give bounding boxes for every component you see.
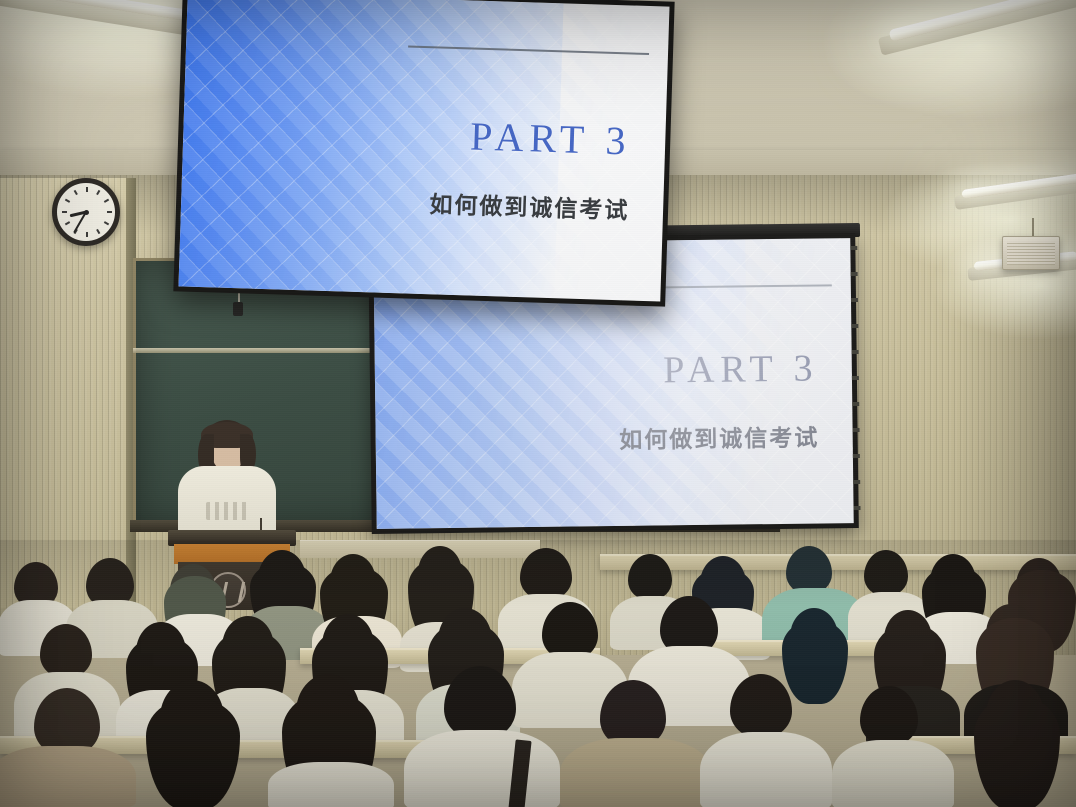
audience xyxy=(0,540,1076,807)
student-torso xyxy=(0,746,136,807)
slide-subtitle: 如何做到诚信考试 xyxy=(429,185,630,225)
student-head xyxy=(628,554,672,600)
slide-part-heading: PART 3 xyxy=(469,113,632,165)
student-hair xyxy=(974,696,1060,807)
presenter-shirt-print xyxy=(206,502,250,520)
tv-slide: PART 3 如何做到诚信考试 xyxy=(178,0,669,301)
student-torso xyxy=(268,762,394,807)
screen-pull-cord-knob xyxy=(233,302,243,316)
clock-tick xyxy=(96,229,100,234)
clock-center-pin xyxy=(84,210,89,215)
student-head xyxy=(444,666,516,740)
student-head xyxy=(40,624,92,678)
presenter xyxy=(172,420,282,538)
clock-tick xyxy=(107,211,112,213)
student-hair xyxy=(146,698,240,807)
clock-tick xyxy=(104,199,109,203)
clock-tick xyxy=(86,232,88,237)
speaker-hanger xyxy=(1032,218,1034,238)
student-torso xyxy=(700,732,832,807)
wall-clock xyxy=(52,178,120,246)
clock-tick xyxy=(65,199,70,203)
slide-part-heading: PART 3 xyxy=(663,347,819,393)
student-head xyxy=(520,548,572,600)
desk-row xyxy=(600,554,1076,570)
student-head xyxy=(786,546,832,594)
student-torso xyxy=(404,730,560,807)
clock-tick xyxy=(65,221,70,225)
clock-tick xyxy=(96,190,100,195)
clock-tick xyxy=(62,211,67,213)
clock-tick xyxy=(74,190,78,195)
clock-tick xyxy=(104,221,109,225)
lecture-hall-photo: PART 3 如何做到诚信考试 PART 3 如何做到诚信考试 xyxy=(0,0,1076,807)
student-head xyxy=(860,686,918,746)
speaker-grill-icon xyxy=(1007,241,1055,265)
student-torso xyxy=(560,738,712,807)
ceiling-speaker xyxy=(1002,236,1060,270)
slide-subtitle: 如何做到诚信考试 xyxy=(619,418,819,454)
student-torso xyxy=(832,740,954,807)
clock-tick xyxy=(86,187,88,192)
wall-mounted-tv: PART 3 如何做到诚信考试 xyxy=(173,0,674,307)
student-head xyxy=(864,550,908,596)
